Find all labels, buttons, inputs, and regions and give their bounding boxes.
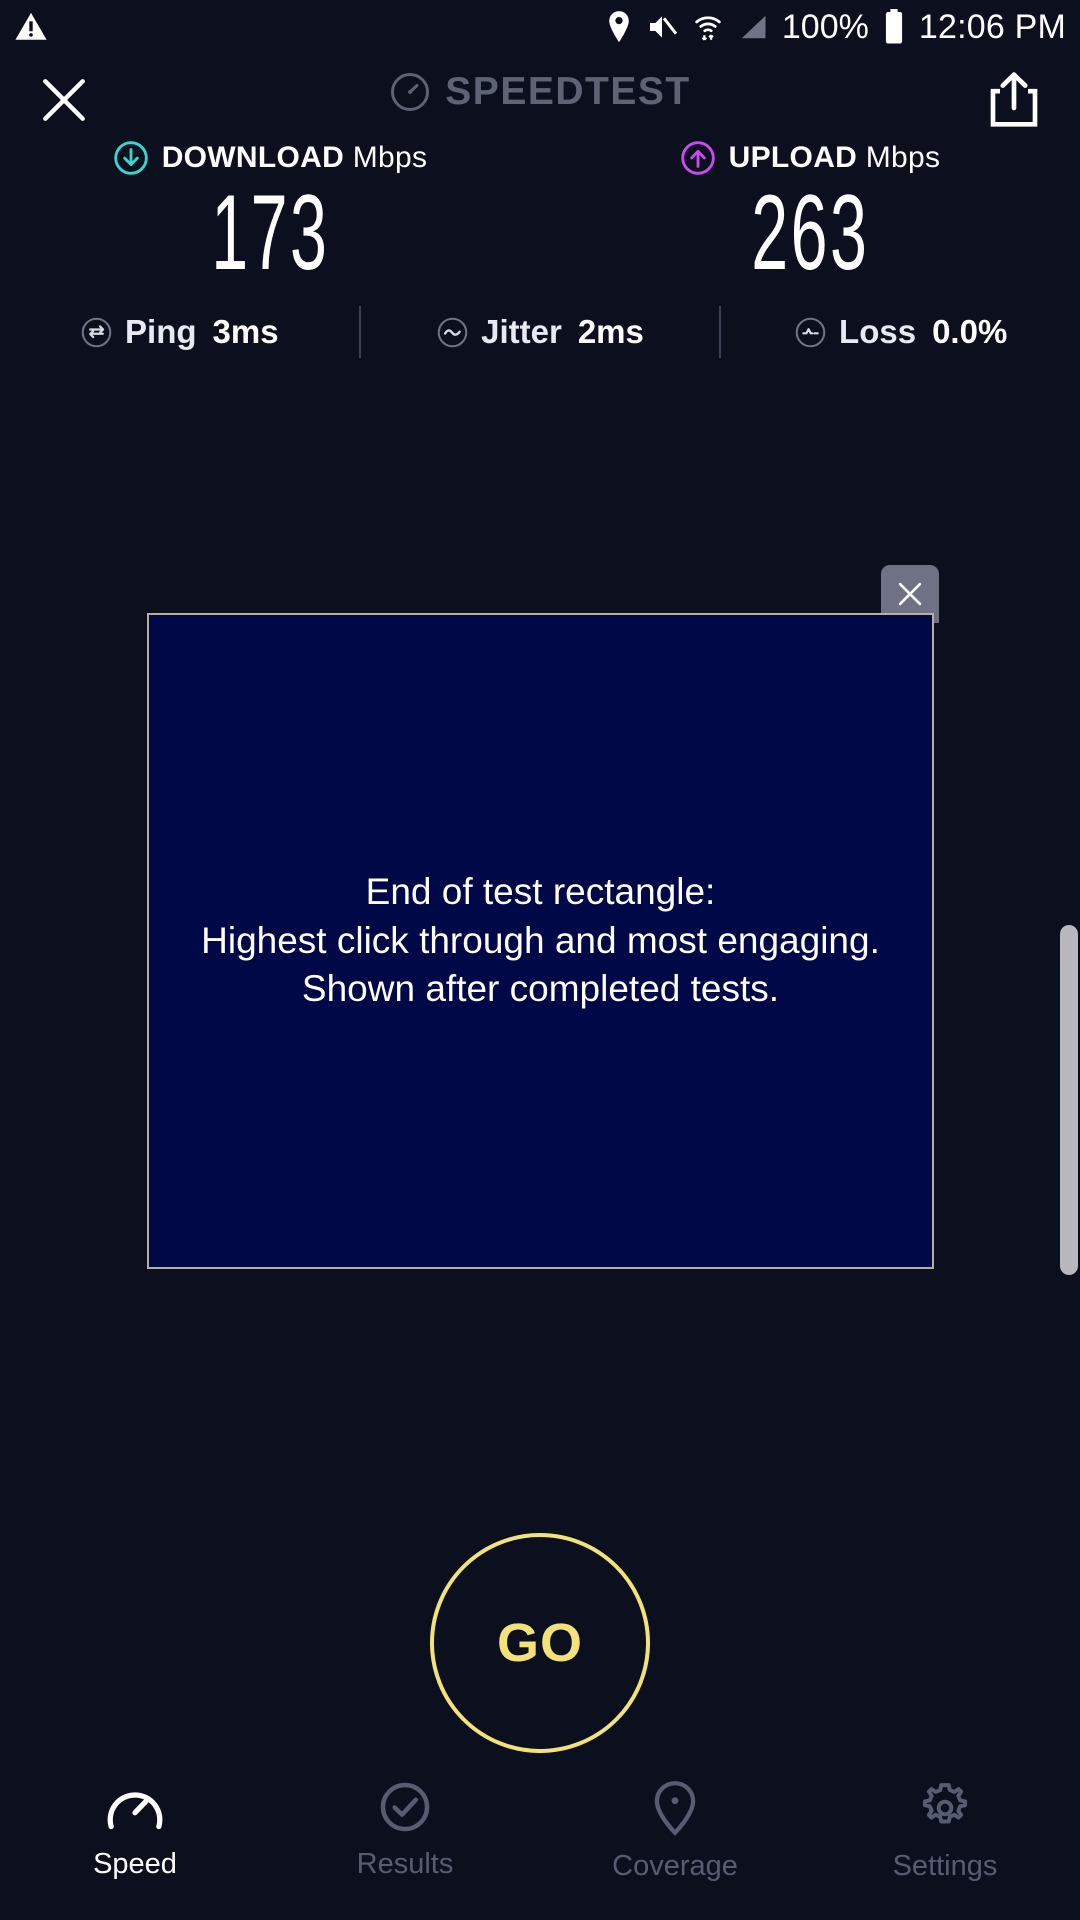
advertisement-banner[interactable]: End of test rectangle: Highest click thr…	[147, 613, 934, 1269]
ad-text: End of test rectangle: Highest click thr…	[201, 868, 880, 1014]
download-arrow-circle-icon	[113, 140, 149, 176]
download-metric: DOWNLOAD Mbps 173	[0, 140, 540, 287]
check-circle-icon	[375, 1780, 435, 1834]
nav-label-settings: Settings	[893, 1850, 998, 1883]
wifi-icon	[692, 11, 724, 43]
upload-arrow-circle-icon	[680, 140, 716, 176]
ad-line-3: Shown after completed tests.	[201, 965, 880, 1014]
nav-label-results: Results	[357, 1848, 454, 1881]
status-bar: 100% 12:06 PM	[0, 0, 1080, 54]
loss-value: 0.0%	[932, 313, 1007, 351]
ad-line-1: End of test rectangle:	[201, 868, 880, 917]
jitter-label: Jitter	[481, 313, 562, 351]
location-pin-icon	[606, 10, 632, 44]
upload-metric: UPLOAD Mbps 263	[540, 140, 1080, 287]
battery-percent-label: 100%	[782, 8, 869, 47]
nav-item-speed[interactable]: Speed	[0, 1780, 270, 1881]
speedometer-icon	[104, 1780, 166, 1834]
jitter-value: 2ms	[578, 313, 644, 351]
upload-label: UPLOAD Mbps	[729, 141, 941, 175]
go-button[interactable]: GO	[430, 1533, 650, 1753]
upload-value: 263	[751, 178, 869, 287]
app-header: SPEEDTEST	[0, 54, 1080, 144]
mute-icon	[646, 11, 678, 43]
brand-title: SPEEDTEST	[445, 70, 690, 114]
ad-line-2: Highest click through and most engaging.	[201, 917, 880, 966]
loss-stat: Loss 0.0%	[721, 313, 1080, 351]
status-bar-clock: 12:06 PM	[919, 8, 1066, 47]
vertical-scrollbar[interactable]	[1060, 925, 1078, 1275]
ping-arrows-circle-icon	[80, 316, 113, 349]
nav-label-speed: Speed	[93, 1848, 177, 1881]
share-icon[interactable]	[986, 70, 1042, 132]
close-icon	[893, 577, 927, 611]
battery-full-icon	[883, 9, 905, 45]
brand-logo: SPEEDTEST	[0, 70, 1080, 114]
download-value: 173	[211, 178, 329, 287]
loss-label: Loss	[839, 313, 916, 351]
ping-label: Ping	[125, 313, 197, 351]
nav-item-settings[interactable]: Settings	[810, 1780, 1080, 1883]
jitter-wave-circle-icon	[436, 316, 469, 349]
ping-stat: Ping 3ms	[0, 313, 359, 351]
jitter-stat: Jitter 2ms	[361, 313, 720, 351]
nav-item-coverage[interactable]: Coverage	[540, 1780, 810, 1883]
loss-dash-circle-icon	[794, 316, 827, 349]
ping-value: 3ms	[213, 313, 279, 351]
nav-item-results[interactable]: Results	[270, 1780, 540, 1881]
go-button-label: GO	[497, 1612, 583, 1674]
network-stats-row: Ping 3ms Jitter 2ms Loss 0.0%	[0, 300, 1080, 364]
download-label: DOWNLOAD Mbps	[162, 141, 428, 175]
speedometer-icon	[389, 71, 431, 113]
speedtest-app-screen: 100% 12:06 PM SPEEDTEST	[0, 0, 1080, 1920]
cell-signal-icon	[738, 12, 768, 42]
location-pin-icon	[649, 1780, 701, 1836]
bottom-navigation: Speed Results Coverage Settings	[0, 1764, 1080, 1920]
results-summary: DOWNLOAD Mbps 173 UPLOAD Mbps 263	[0, 140, 1080, 287]
warning-triangle-icon	[14, 10, 48, 44]
nav-label-coverage: Coverage	[612, 1850, 738, 1883]
gear-icon	[916, 1780, 974, 1836]
